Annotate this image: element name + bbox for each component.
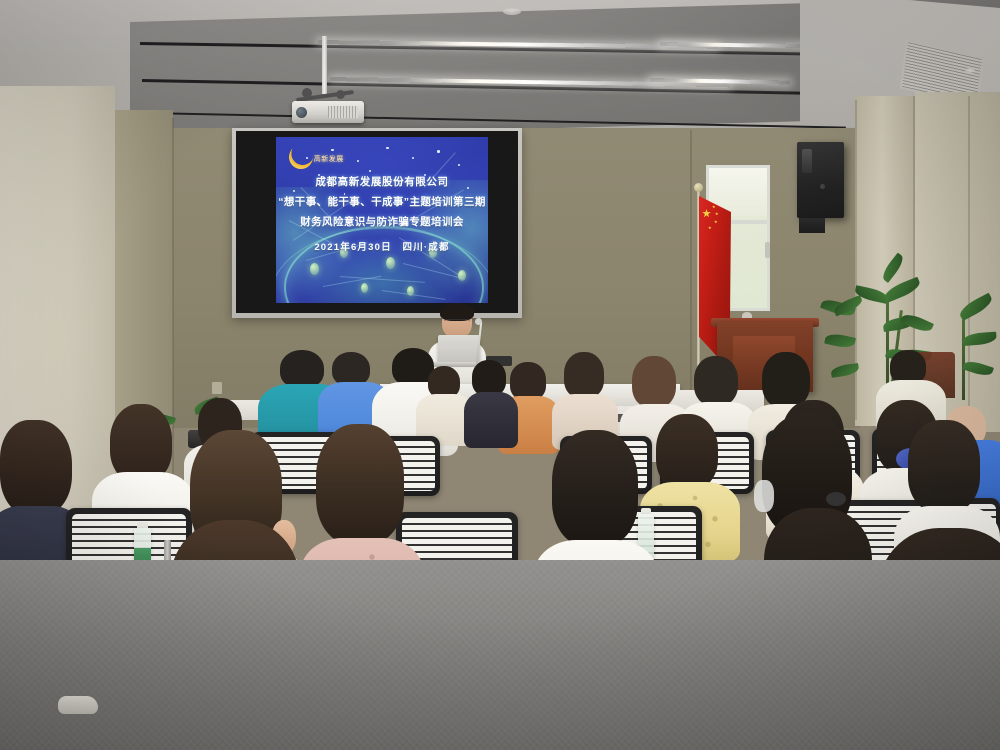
- attendee-hair: [0, 420, 72, 516]
- ceiling-projector: [292, 101, 364, 123]
- wall-speaker: [797, 142, 844, 218]
- company-logo: 高新发展: [289, 145, 347, 171]
- logo-crescent-icon: [285, 141, 317, 173]
- attendee-hair: [472, 360, 506, 396]
- ceiling-fixture-small: [965, 68, 975, 73]
- hair-tie: [826, 492, 846, 506]
- flag-pole-finial: [694, 183, 703, 192]
- projector-mount-pole: [322, 36, 327, 94]
- carpet-texture: [0, 560, 1000, 750]
- attendee-hair: [632, 356, 676, 408]
- attendee-hair: [890, 350, 926, 384]
- window-handle[interactable]: [765, 242, 770, 258]
- wall-seam-1: [690, 130, 692, 390]
- slide-session-title: 财务风险意识与防诈骗专题培训会: [276, 214, 488, 229]
- attendee-hair: [694, 356, 738, 406]
- logo-text: 高新发展: [314, 154, 344, 164]
- attendee-hair: [762, 352, 810, 408]
- wall-outlet-left: [212, 382, 222, 394]
- attendee-hair: [510, 362, 546, 400]
- speaker-bracket: [799, 218, 825, 233]
- attendee-hair: [280, 350, 324, 388]
- carpet-floor: [0, 560, 1000, 750]
- attendee-hair: [316, 424, 404, 544]
- slide-date-location: 2021年6月30日 四川·成都: [276, 239, 488, 253]
- slide-text-block: 成都高新发展股份有限公司 “想干事、能干事、干成事”主题培训第三期 财务风险意识…: [276, 174, 488, 253]
- attendee-hair: [332, 352, 370, 386]
- ceiling-smoke-detector: [503, 8, 521, 15]
- attendee-torso: [464, 392, 518, 448]
- attendee-hair: [110, 404, 172, 482]
- attendee-hair: [908, 420, 980, 512]
- attendee-hair: [656, 414, 718, 490]
- speaker-driver-panel: [802, 149, 812, 173]
- slide-program-title: “想干事、能干事、干成事”主题培训第三期: [276, 194, 488, 209]
- presenter-glasses: [444, 319, 470, 326]
- attendee-hair: [552, 430, 638, 546]
- wall-seam-4: [968, 96, 970, 406]
- projector-lens: [296, 107, 307, 118]
- projector-vent: [328, 106, 358, 118]
- slide-company-name: 成都高新发展股份有限公司: [276, 174, 488, 189]
- face-mask-edge: [754, 480, 774, 512]
- presenter-laptop[interactable]: [438, 335, 480, 363]
- microphone-head: [475, 318, 482, 325]
- attendee-shoe: [58, 696, 98, 714]
- seminar-room-photo: 高新发展 成都高新发展股份有限公司 “想干事、能干事、干成事”主题培训第三期 财…: [0, 0, 1000, 750]
- attendee-hair: [564, 352, 604, 398]
- speaker-led: [820, 184, 825, 189]
- projected-slide: 高新发展 成都高新发展股份有限公司 “想干事、能干事、干成事”主题培训第三期 财…: [276, 137, 488, 303]
